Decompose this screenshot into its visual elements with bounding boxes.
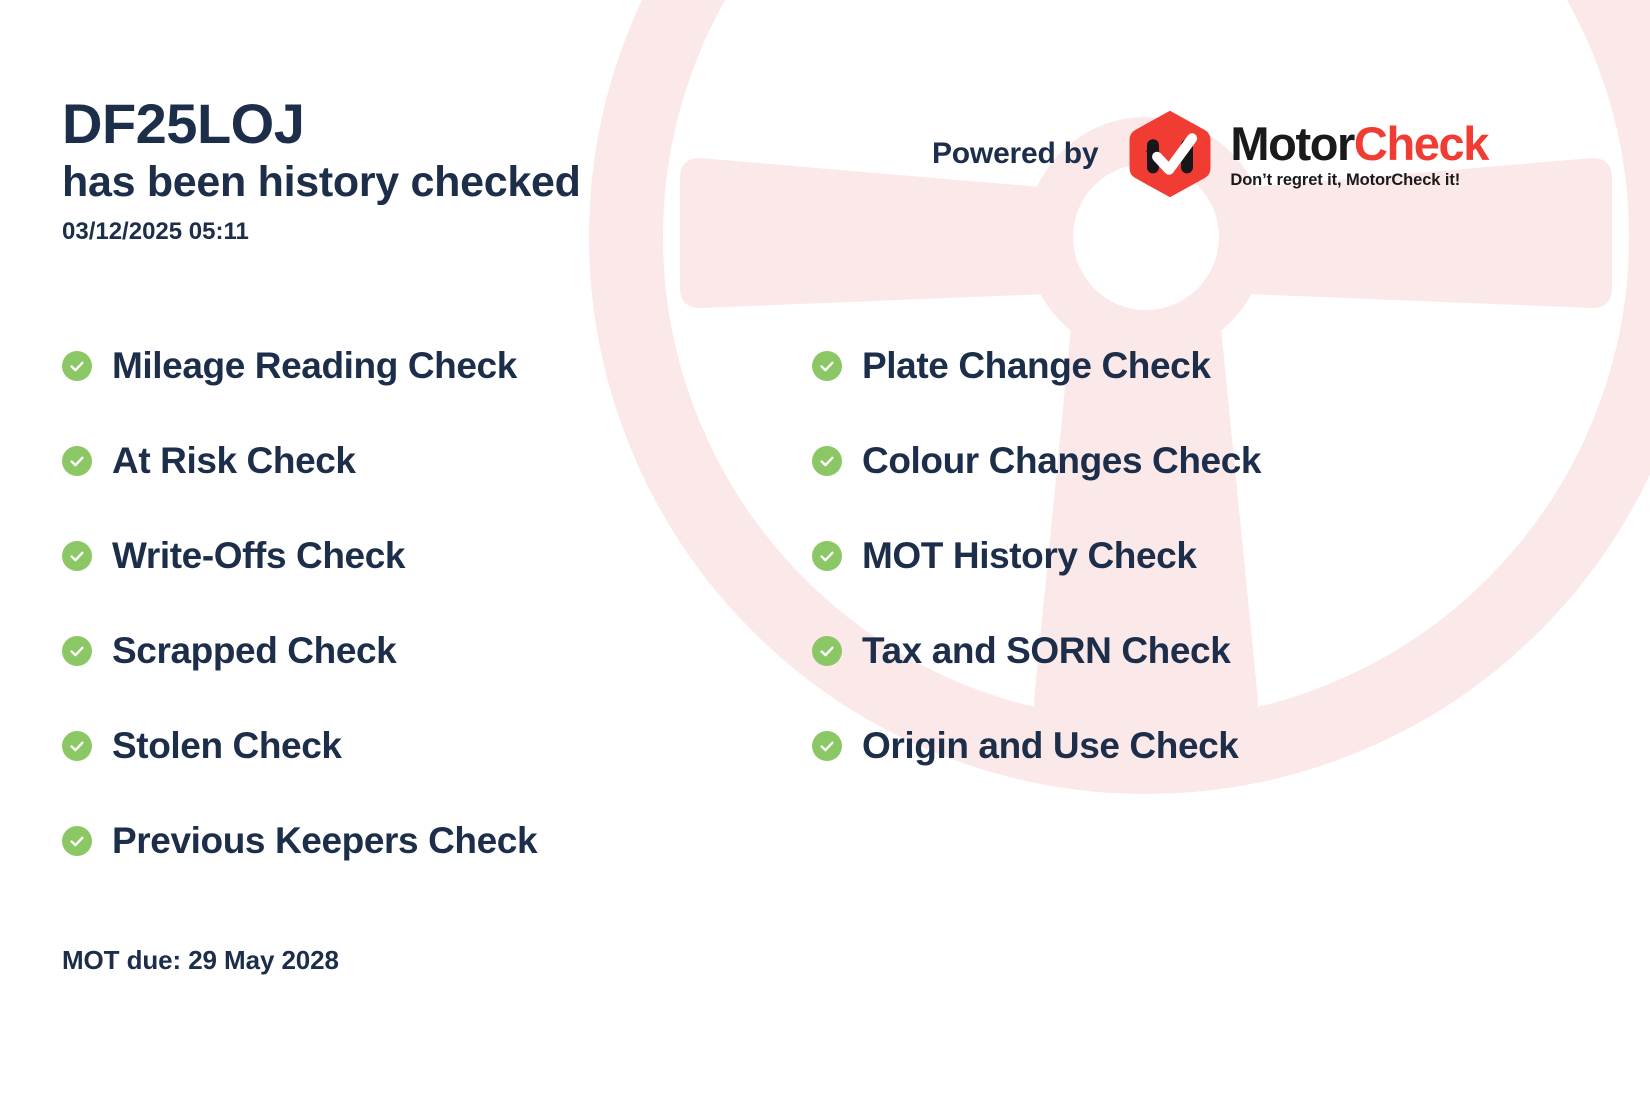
check-label: Stolen Check	[112, 727, 342, 764]
vehicle-history-check-card: DF25LOJ has been history checked 03/12/2…	[0, 0, 1650, 1100]
check-circle-icon	[62, 541, 92, 571]
check-circle-icon	[812, 351, 842, 381]
check-label: Colour Changes Check	[862, 442, 1261, 479]
checklist-left-column: Mileage Reading Check At Risk Check Writ…	[62, 318, 782, 888]
check-item: Stolen Check	[62, 698, 782, 793]
check-label: MOT History Check	[862, 537, 1197, 574]
powered-by-block: Powered by MotorCheck Don’t regret it, M…	[932, 108, 1488, 200]
header-text-block: DF25LOJ has been history checked 03/12/2…	[62, 95, 581, 247]
check-label: At Risk Check	[112, 442, 356, 479]
check-label: Previous Keepers Check	[112, 822, 537, 859]
check-label: Scrapped Check	[112, 632, 396, 669]
check-circle-icon	[812, 446, 842, 476]
mot-due-text: MOT due: 29 May 2028	[62, 945, 339, 976]
check-circle-icon	[62, 731, 92, 761]
check-item: Colour Changes Check	[812, 413, 1572, 508]
check-item: Scrapped Check	[62, 603, 782, 698]
check-item: At Risk Check	[62, 413, 782, 508]
check-label: Origin and Use Check	[862, 727, 1239, 764]
headline: has been history checked	[62, 156, 581, 210]
check-label: Write-Offs Check	[112, 537, 405, 574]
powered-by-label: Powered by	[932, 137, 1098, 171]
check-item: Plate Change Check	[812, 318, 1572, 413]
check-circle-icon	[62, 826, 92, 856]
check-item: MOT History Check	[812, 508, 1572, 603]
check-label: Plate Change Check	[862, 347, 1211, 384]
brand-name: MotorCheck	[1230, 120, 1488, 167]
check-item: Origin and Use Check	[812, 698, 1572, 793]
motorcheck-wordmark: MotorCheck Don’t regret it, MotorCheck i…	[1230, 120, 1488, 189]
check-circle-icon	[62, 446, 92, 476]
checklist-right-column: Plate Change Check Colour Changes Check …	[812, 318, 1572, 793]
check-label: Tax and SORN Check	[862, 632, 1230, 669]
check-label: Mileage Reading Check	[112, 347, 517, 384]
brand-name-motor: Motor	[1230, 117, 1354, 170]
check-item: Write-Offs Check	[62, 508, 782, 603]
check-circle-icon	[62, 351, 92, 381]
check-timestamp: 03/12/2025 05:11	[62, 216, 581, 247]
motorcheck-logo[interactable]: MotorCheck Don’t regret it, MotorCheck i…	[1124, 108, 1488, 200]
check-item: Mileage Reading Check	[62, 318, 782, 413]
check-item: Tax and SORN Check	[812, 603, 1572, 698]
check-circle-icon	[812, 541, 842, 571]
check-circle-icon	[62, 636, 92, 666]
brand-tagline: Don’t regret it, MotorCheck it!	[1230, 172, 1488, 189]
motorcheck-hexagon-icon	[1124, 108, 1216, 200]
check-item: Previous Keepers Check	[62, 793, 782, 888]
check-circle-icon	[812, 731, 842, 761]
registration-plate: DF25LOJ	[62, 95, 581, 154]
check-circle-icon	[812, 636, 842, 666]
brand-name-check: Check	[1354, 117, 1488, 170]
